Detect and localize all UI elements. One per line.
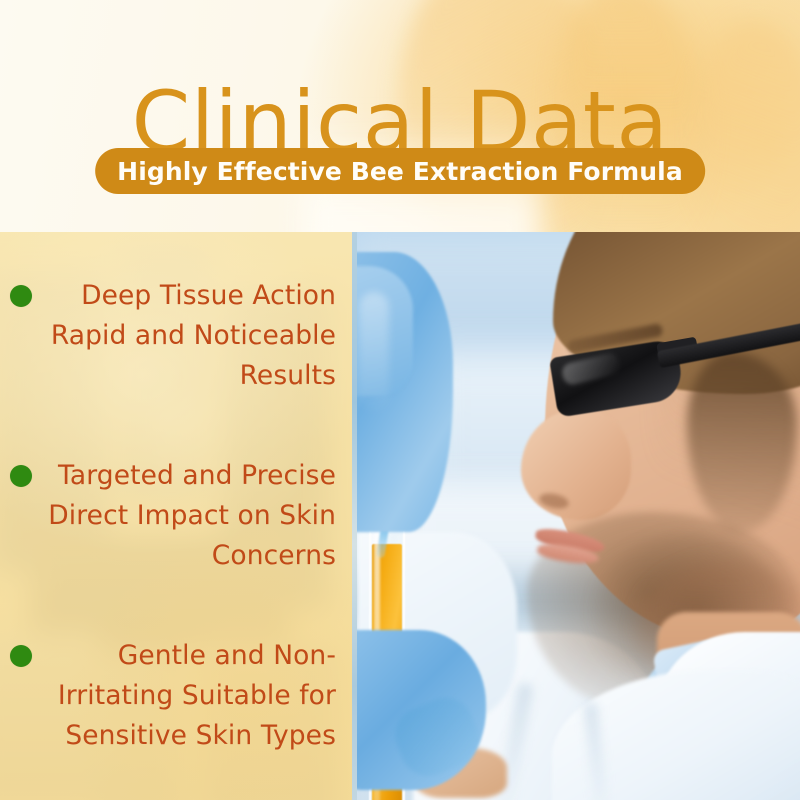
- glove-highlight: [359, 292, 389, 412]
- benefits-list: Deep Tissue Action Rapid and Noticeable …: [0, 232, 357, 800]
- bullet-dot-icon: [10, 465, 32, 487]
- list-item: Targeted and Precise Direct Impact on Sk…: [0, 456, 357, 576]
- nose: [521, 410, 631, 520]
- list-item-label: Deep Tissue Action Rapid and Noticeable …: [0, 276, 357, 396]
- laboratory-photo: [357, 232, 800, 800]
- bullet-dot-icon: [10, 285, 32, 307]
- list-item: Deep Tissue Action Rapid and Noticeable …: [0, 276, 357, 396]
- subtitle-badge: Highly Effective Bee Extraction Formula: [95, 148, 705, 194]
- list-item-label: Gentle and Non-Irritating Suitable for S…: [0, 636, 357, 756]
- subtitle-badge-label: Highly Effective Bee Extraction Formula: [117, 157, 683, 186]
- list-item: Gentle and Non-Irritating Suitable for S…: [0, 636, 357, 756]
- content-area: Deep Tissue Action Rapid and Noticeable …: [0, 232, 800, 800]
- header-banner: Clinical Data Highly Effective Bee Extra…: [0, 0, 800, 232]
- clinical-data-poster: Clinical Data Highly Effective Bee Extra…: [0, 0, 800, 800]
- benefits-panel: Deep Tissue Action Rapid and Noticeable …: [0, 232, 357, 800]
- list-item-label: Targeted and Precise Direct Impact on Sk…: [0, 456, 357, 576]
- bullet-dot-icon: [10, 645, 32, 667]
